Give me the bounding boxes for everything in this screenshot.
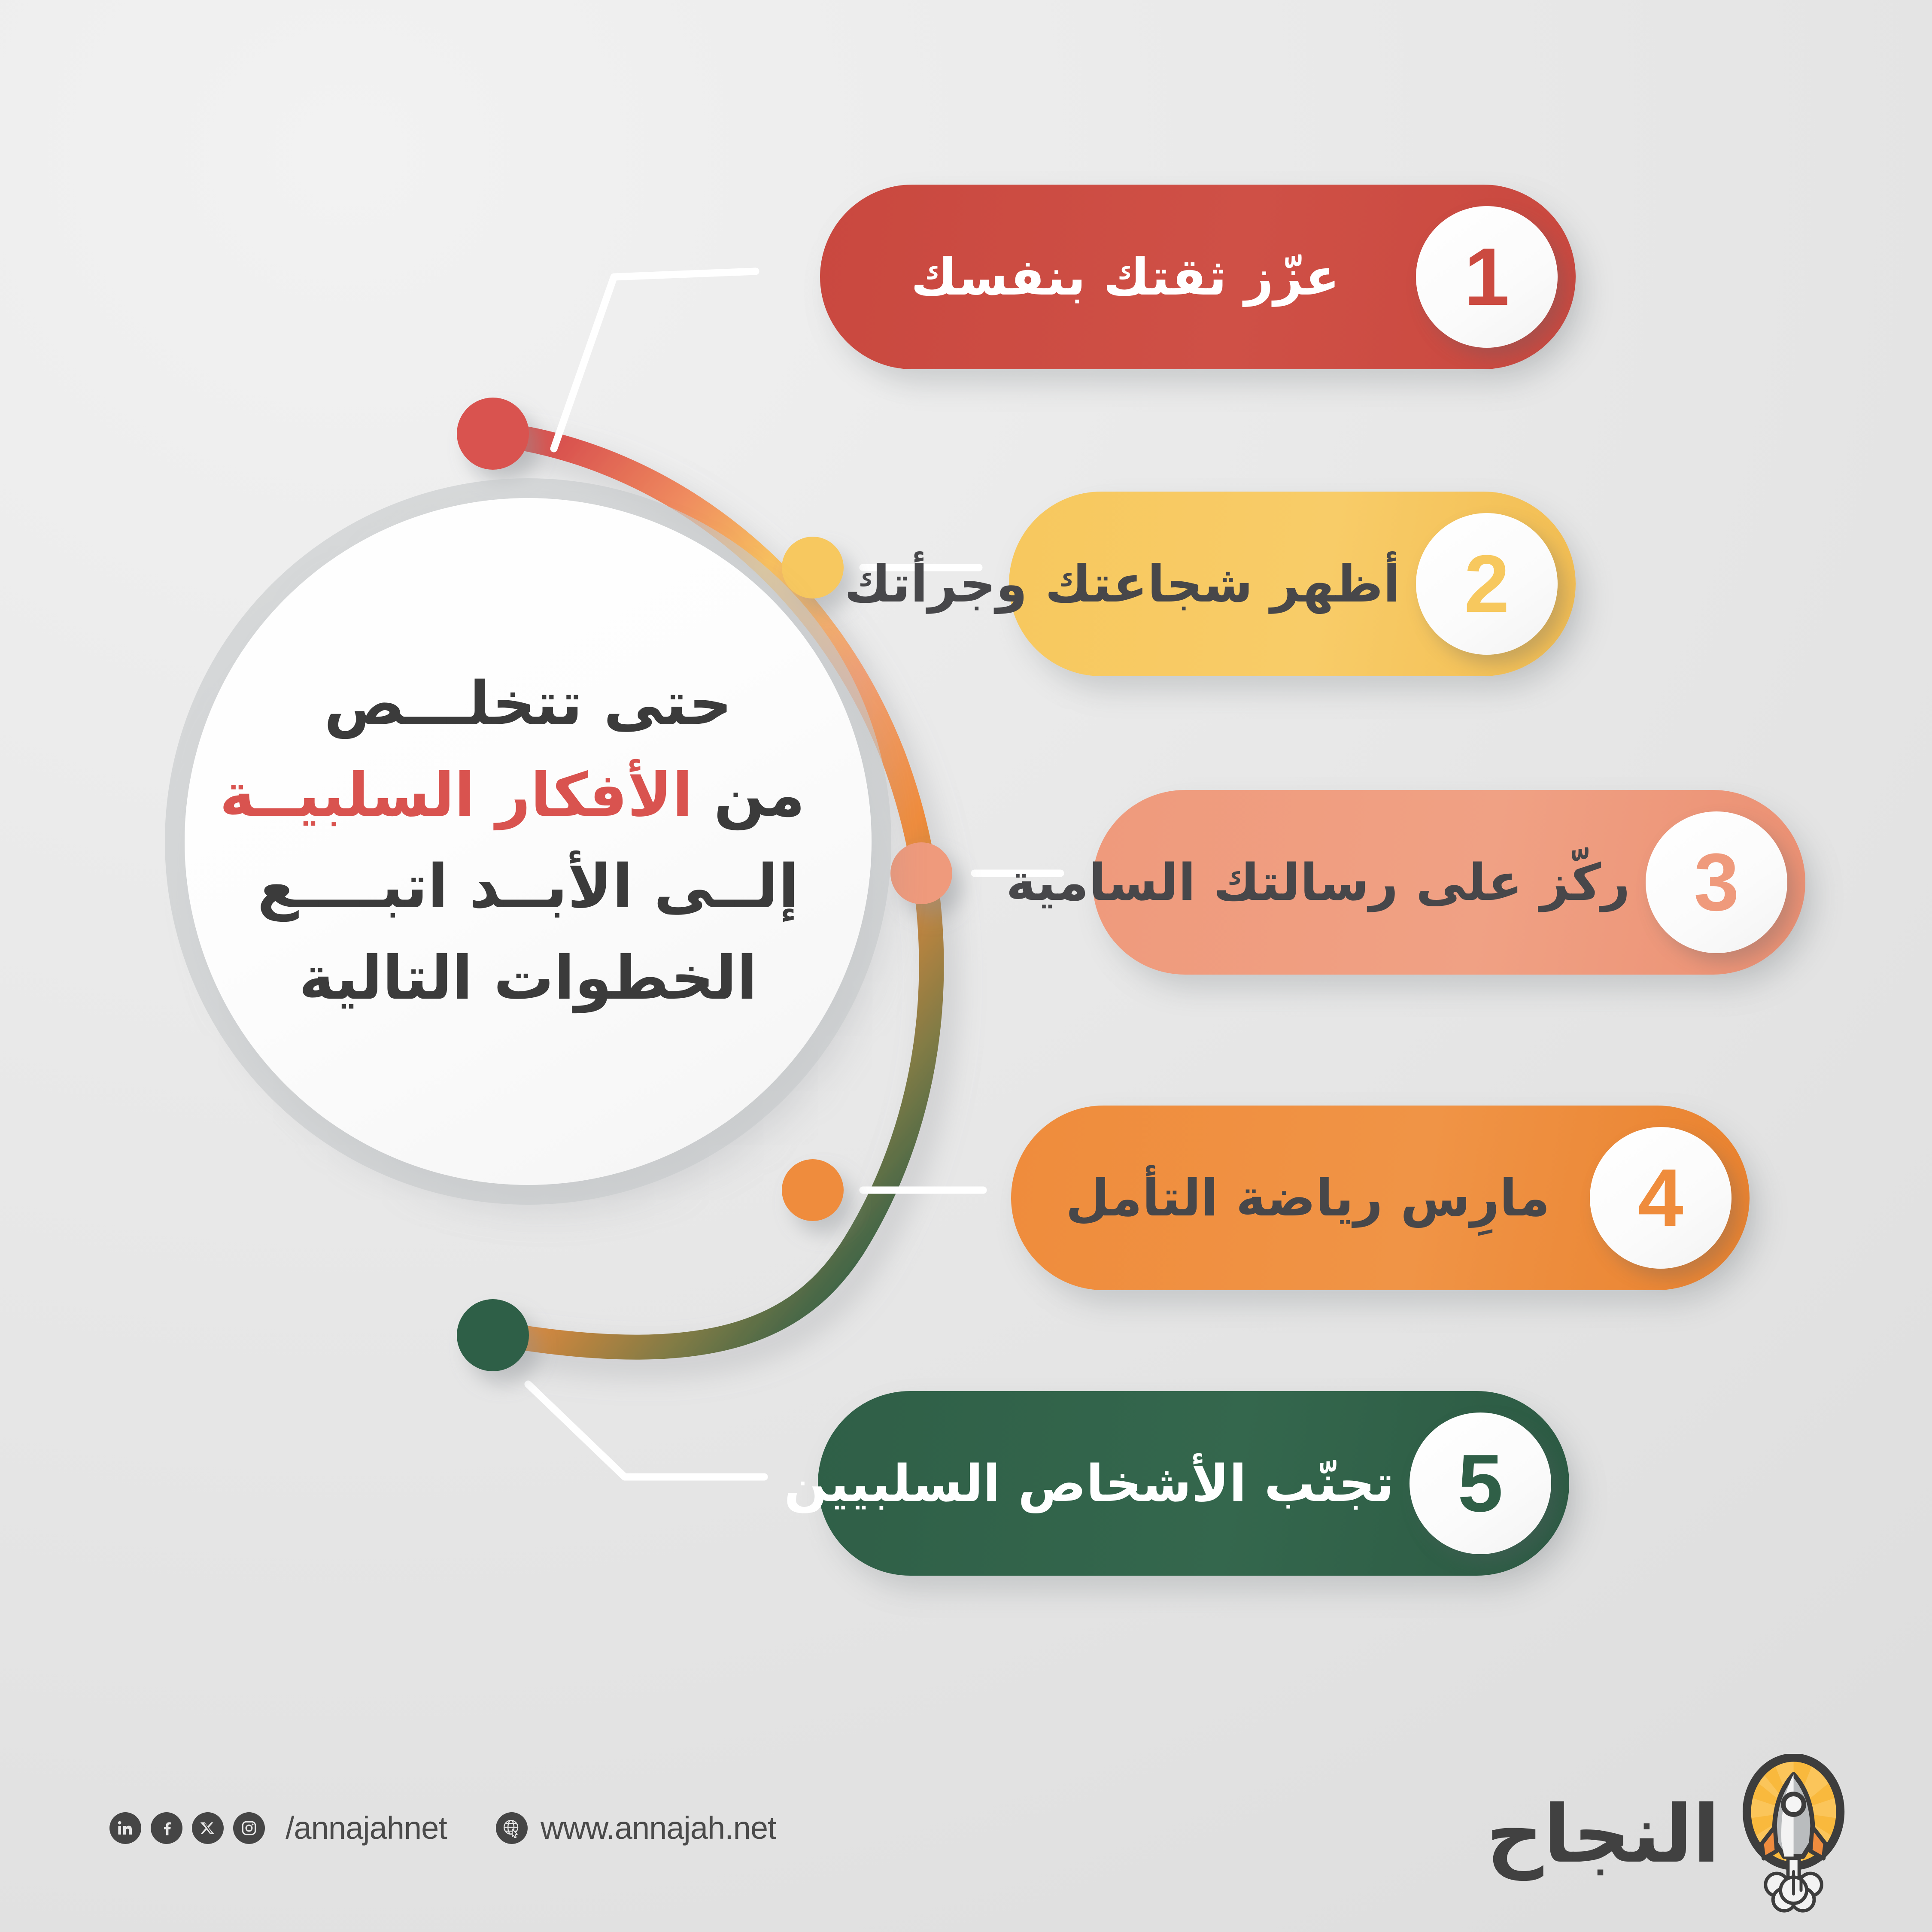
rocket-badge-icon xyxy=(1735,1754,1868,1914)
step-pill-2[interactable]: 2 أظهر شجاعتك وجرأتك xyxy=(1009,492,1576,676)
brand-name: النجاح xyxy=(1486,1795,1720,1874)
step-label-4: مارِس رياضة التأمل xyxy=(1011,1168,1579,1227)
step-pill-4[interactable]: 4 مارِس رياضة التأمل xyxy=(1011,1106,1750,1290)
arc-dot-5[interactable] xyxy=(457,1299,529,1371)
social-handle[interactable]: /annajahnet xyxy=(286,1810,447,1846)
step-number-badge-1: 1 xyxy=(1416,206,1558,348)
hub-line-1: حتى تتخلـــص xyxy=(251,659,805,750)
step-number-badge-4: 4 xyxy=(1590,1127,1732,1269)
step-pill-1[interactable]: 1 عزّز ثقتك بنفسك xyxy=(820,185,1576,369)
social-links-group: /annajahnet xyxy=(109,1810,447,1846)
hub-line-2-prefix: من xyxy=(693,760,805,830)
facebook-icon[interactable] xyxy=(151,1812,182,1844)
step-label-1: عزّز ثقتك بنفسك xyxy=(820,247,1405,307)
step-label-2: أظهر شجاعتك وجرأتك xyxy=(814,554,1405,614)
step-pill-5[interactable]: 5 تجنّب الأشخاص السلبيين xyxy=(818,1391,1569,1576)
connector-step-1 xyxy=(554,271,756,449)
step-number-badge-3: 3 xyxy=(1646,811,1787,953)
center-hub-circle: حتى تتخلـــص من الأفكار السلبيــة إلــى … xyxy=(185,498,872,1185)
website-group: www.annajah.net xyxy=(496,1810,776,1846)
hub-line-2: من الأفكار السلبيــة xyxy=(251,750,805,841)
instagram-icon[interactable] xyxy=(233,1812,265,1844)
arc-dot-1[interactable] xyxy=(457,398,529,470)
linkedin-icon[interactable] xyxy=(109,1812,141,1844)
hub-line-3: إلــى الأبــد اتبــــع xyxy=(251,841,805,933)
step-number-badge-2: 2 xyxy=(1416,513,1558,655)
step-label-5: تجنّب الأشخاص السلبيين xyxy=(754,1454,1398,1513)
step-number-badge-5: 5 xyxy=(1410,1413,1551,1554)
arc-dot-4[interactable] xyxy=(782,1159,844,1221)
arc-dot-3[interactable] xyxy=(890,842,952,904)
brand-logo-group: النجاح xyxy=(1486,1754,1868,1914)
website-url[interactable]: www.annajah.net xyxy=(541,1810,776,1846)
hub-text-block: حتى تتخلـــص من الأفكار السلبيــة إلــى … xyxy=(251,659,805,1024)
globe-cursor-icon[interactable] xyxy=(496,1812,528,1844)
hub-line-4: الخطوات التالية xyxy=(251,933,805,1024)
step-pill-3[interactable]: 3 ركّز على رسالتك السامية xyxy=(1093,790,1805,975)
step-label-3: ركّز على رسالتك السامية xyxy=(976,853,1634,912)
infographic-stage: حتى تتخلـــص من الأفكار السلبيــة إلــى … xyxy=(0,0,1932,1932)
x-twitter-icon[interactable] xyxy=(192,1812,224,1844)
hub-accent-phrase: الأفكار السلبيــة xyxy=(219,760,693,830)
connector-step-5 xyxy=(528,1384,764,1477)
